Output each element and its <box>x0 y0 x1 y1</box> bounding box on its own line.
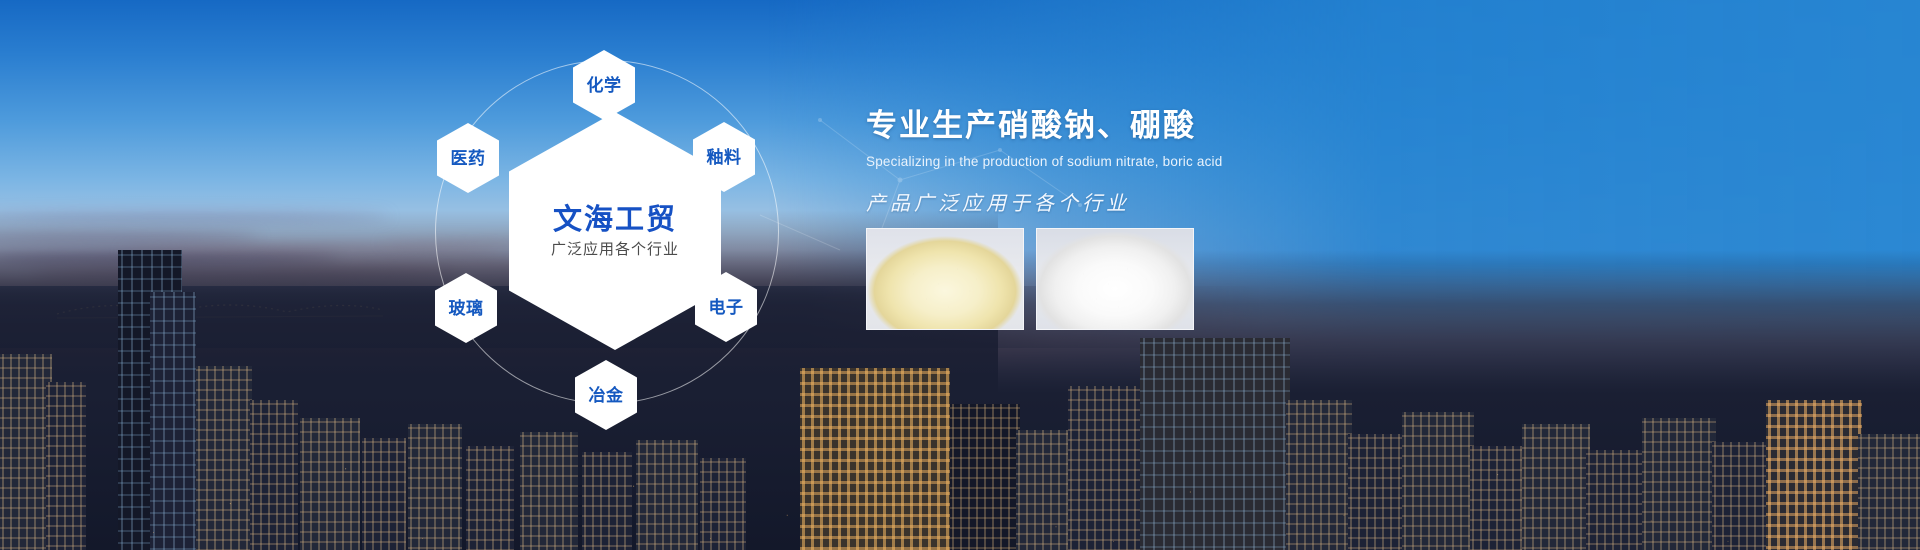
industry-application-diagram: 化学 釉料 电子 冶金 玻璃 医药 文海工贸 广泛应用各个行业 <box>415 22 815 442</box>
hex-node-label: 电子 <box>709 299 744 316</box>
product-photo-sodium-nitrate[interactable] <box>866 228 1024 330</box>
marketing-copy: 专业生产硝酸钠、硼酸 Specializing in the productio… <box>866 108 1566 216</box>
promotional-banner: 化学 釉料 电子 冶金 玻璃 医药 文海工贸 广泛应用各个行业 专业生产硝酸钠、… <box>0 0 1920 550</box>
company-name: 文海工贸 <box>553 206 677 235</box>
script-tagline: 产品广泛应用于各个行业 <box>866 192 1566 216</box>
product-photo-gallery <box>866 228 1194 330</box>
company-tagline: 广泛应用各个行业 <box>551 242 679 257</box>
powder-grain-texture <box>1037 229 1193 329</box>
hex-node-label: 医药 <box>451 150 486 167</box>
hex-node-label: 化学 <box>587 77 622 94</box>
hex-node-label: 冶金 <box>589 387 624 404</box>
powder-grain-texture <box>867 229 1023 329</box>
product-photo-boric-acid[interactable] <box>1036 228 1194 330</box>
english-subline: Specializing in the production of sodium… <box>866 154 1566 170</box>
hex-node-label: 玻璃 <box>449 300 484 317</box>
hex-node-label: 釉料 <box>707 149 742 166</box>
headline: 专业生产硝酸钠、硼酸 <box>866 108 1566 144</box>
